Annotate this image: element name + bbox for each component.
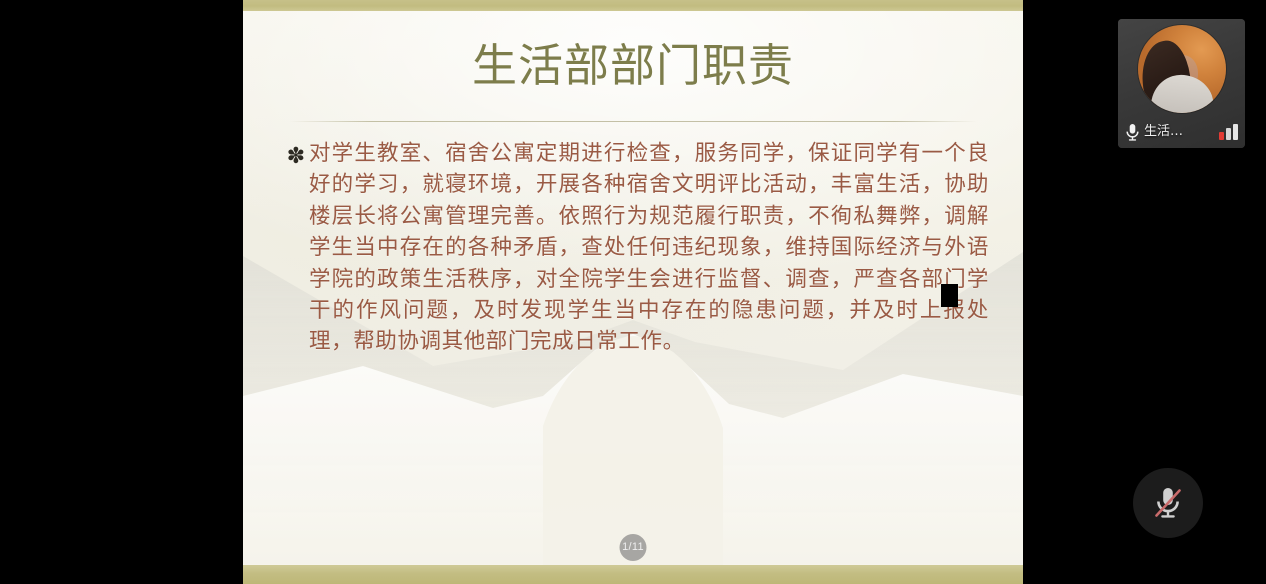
thumbnail-footer: 生活… xyxy=(1118,120,1245,144)
microphone-icon xyxy=(1125,123,1140,142)
slide-title: 生活部部门职责 xyxy=(243,38,1023,94)
text-caret-block xyxy=(941,284,958,307)
slide-bottom-band xyxy=(243,565,1023,584)
signal-bar-1 xyxy=(1219,132,1224,140)
signal-bar-2 xyxy=(1226,128,1231,140)
bullet-marker-icon: ✽ xyxy=(283,138,309,172)
participant-name: 生活… xyxy=(1144,124,1219,140)
slide-body-block: ✽ 对学生教室、宿舍公寓定期进行检查，服务同学，保证同学有一个良好的学习，就寝环… xyxy=(283,138,989,358)
slide-body-text: 对学生教室、宿舍公寓定期进行检查，服务同学，保证同学有一个良好的学习，就寝环境，… xyxy=(309,138,989,358)
slide-top-band xyxy=(243,0,1023,11)
participant-video-thumbnail[interactable]: 生活… xyxy=(1118,19,1245,148)
title-divider xyxy=(289,121,977,122)
signal-bars-icon xyxy=(1219,124,1238,140)
shared-slide[interactable]: 生活部部门职责 ✽ 对学生教室、宿舍公寓定期进行检查，服务同学，保证同学有一个良… xyxy=(243,0,1023,584)
signal-bar-3 xyxy=(1233,124,1238,140)
mute-button[interactable] xyxy=(1133,468,1203,538)
microphone-muted-icon xyxy=(1151,484,1185,522)
avatar xyxy=(1138,25,1226,113)
page-indicator[interactable]: 1/11 xyxy=(620,534,647,561)
screen-share-stage: 生活部部门职责 ✽ 对学生教室、宿舍公寓定期进行检查，服务同学，保证同学有一个良… xyxy=(0,0,1266,584)
